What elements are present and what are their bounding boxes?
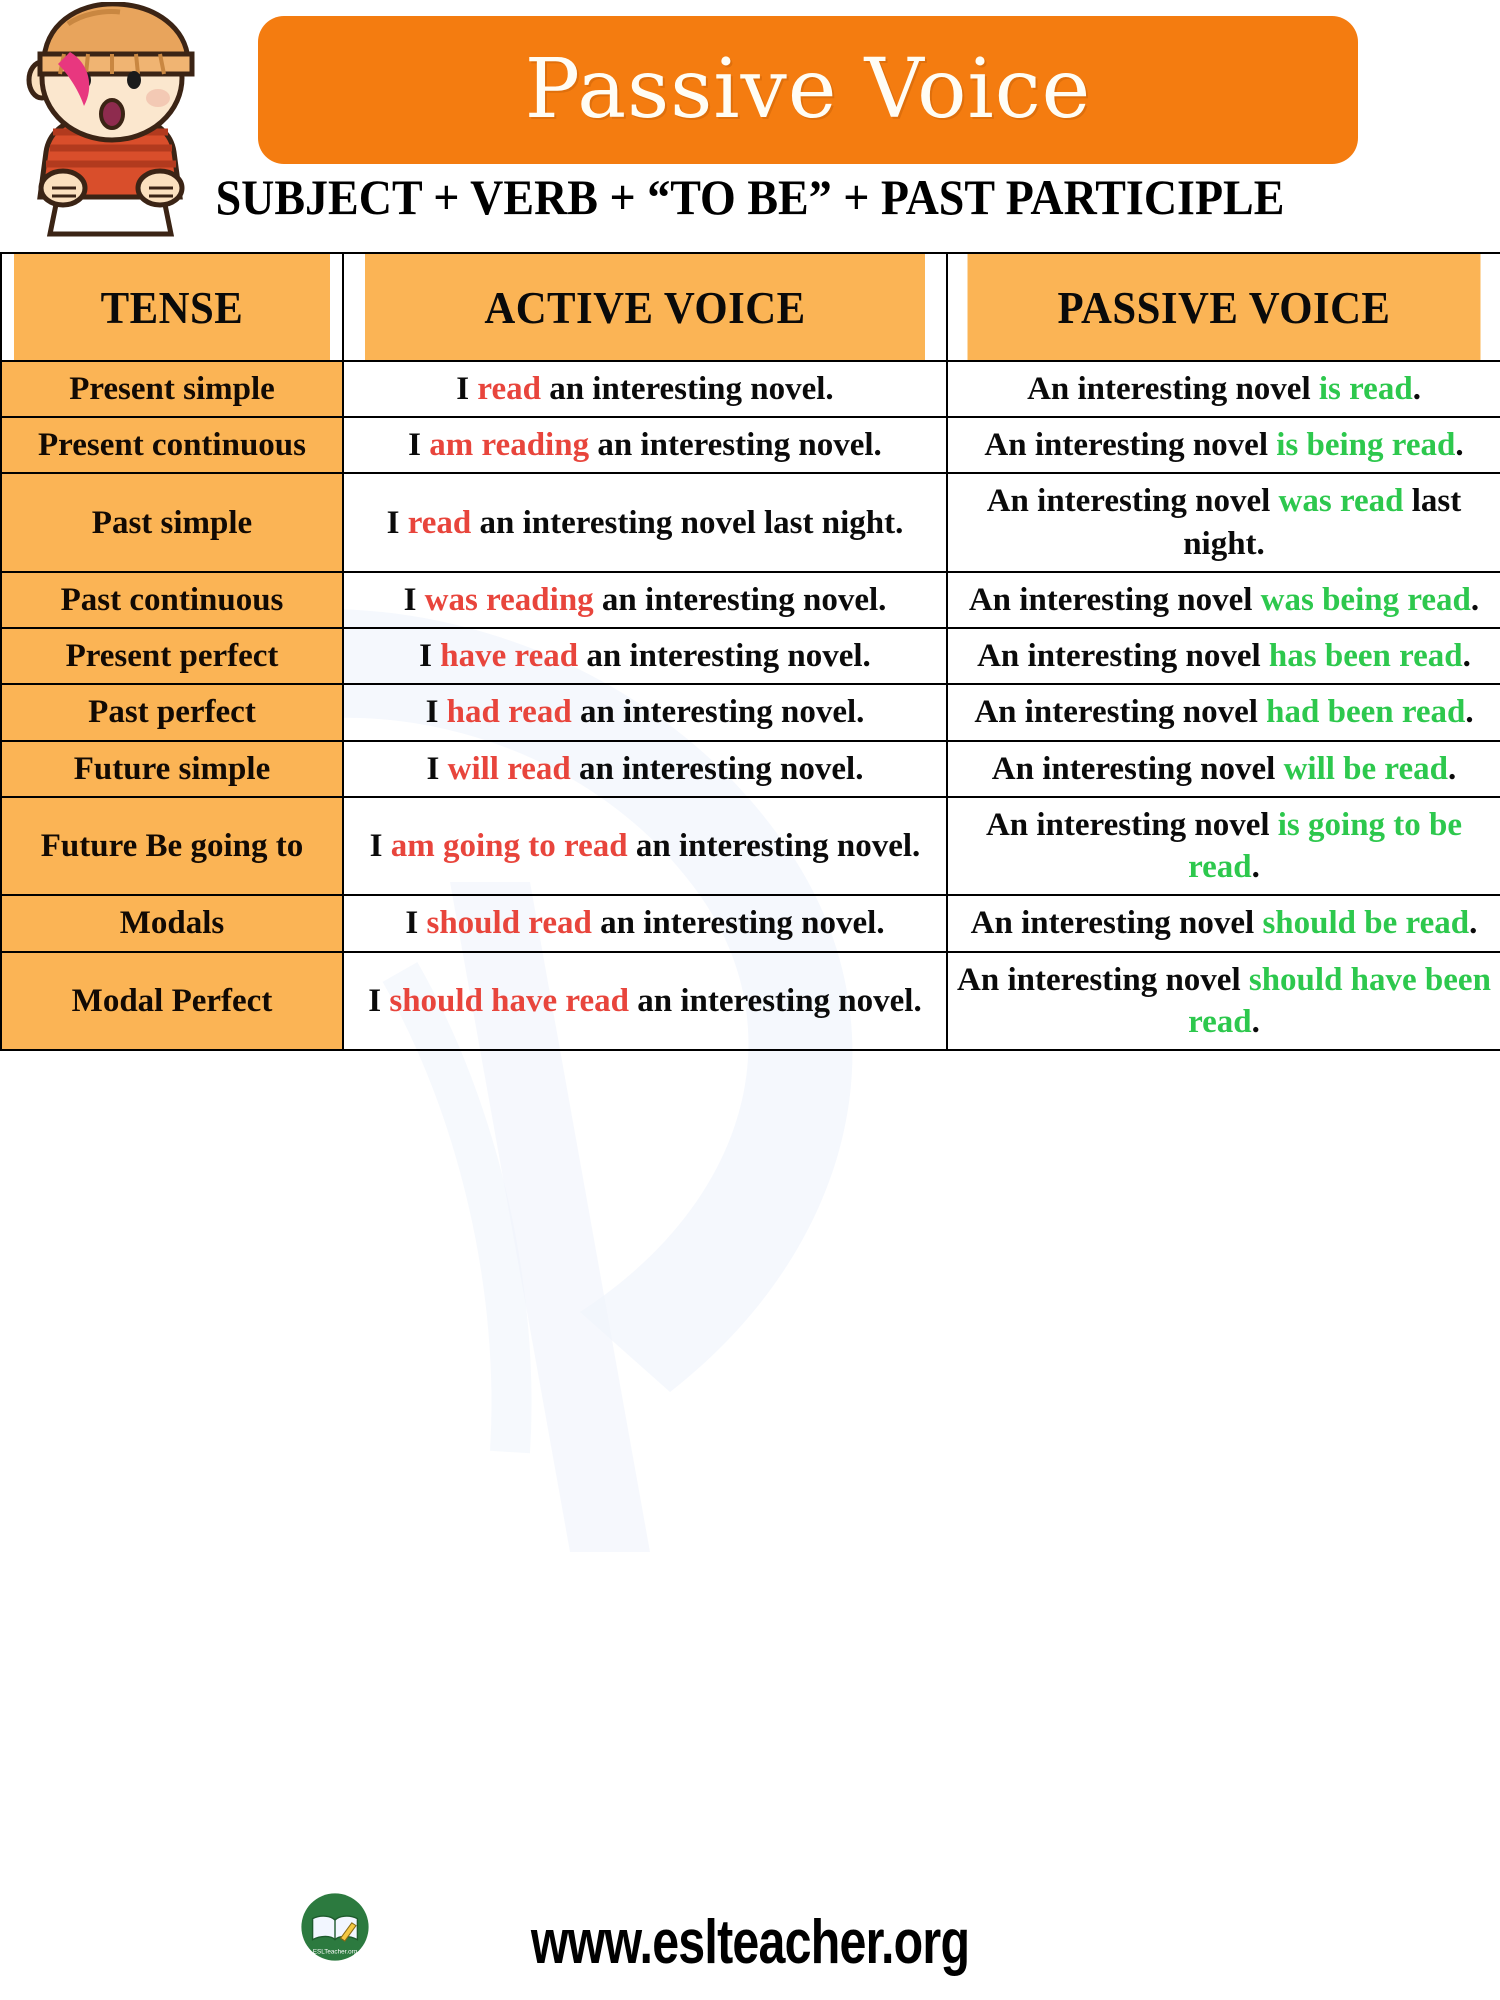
tense-label: Future simple [1, 741, 343, 797]
highlighted-verb: am reading [429, 427, 589, 463]
sentence-text: I [419, 638, 440, 674]
active-voice-sentence: I read an interesting novel. [343, 361, 947, 417]
sentence-text: an interesting novel. [589, 427, 882, 463]
highlighted-verb: should read [426, 905, 591, 941]
sentence-text: . [1463, 638, 1471, 674]
sentence-text: an interesting novel. [578, 638, 871, 674]
sentence-text: An interesting novel [971, 905, 1263, 941]
table-row: Future simpleI will read an interesting … [1, 741, 1500, 797]
tense-label: Past simple [1, 473, 343, 571]
table-row: Present simpleI read an interesting nove… [1, 361, 1500, 417]
sentence-text: An interesting novel [987, 483, 1279, 519]
website-url[interactable]: www.eslteacher.org [531, 1907, 969, 1978]
highlighted-verb: should be read [1262, 905, 1469, 941]
eslteacher-logo-badge: ESLTeacher.org [300, 1892, 370, 1962]
tense-label: Past perfect [1, 684, 343, 740]
sentence-text: an interesting novel. [629, 983, 922, 1019]
sentence-text: I [370, 828, 391, 864]
sentence-text: . [1455, 427, 1463, 463]
highlighted-verb: read [477, 371, 541, 407]
sentence-text: An interesting novel [986, 807, 1278, 843]
tense-label: Present continuous [1, 417, 343, 473]
passive-voice-table-wrap: TENSE ACTIVE VOICE PASSIVE VOICE Present… [0, 252, 1500, 1051]
svg-text:ESLTeacher.org: ESLTeacher.org [313, 1949, 358, 1956]
column-header-active: ACTIVE VOICE [364, 253, 926, 361]
highlighted-verb: is being read [1276, 427, 1455, 463]
sentence-text: an interesting novel. [572, 694, 865, 730]
sentence-text: . [1448, 751, 1456, 787]
page-header: Passive Voice SUBJECT + VERB + “TO BE” +… [0, 0, 1500, 252]
highlighted-verb: am going to read [391, 828, 628, 864]
sentence-text: I [387, 505, 408, 541]
tense-label: Past continuous [1, 572, 343, 628]
column-header-passive: PASSIVE VOICE [966, 253, 1481, 361]
formula-subtitle: SUBJECT + VERB + “TO BE” + PAST PARTICIP… [60, 168, 1440, 226]
table-row: Past continuousI was reading an interest… [1, 572, 1500, 628]
active-voice-sentence: I am going to read an interesting novel. [343, 797, 947, 895]
sentence-text: . [1252, 1004, 1260, 1040]
page-title: Passive Voice [525, 49, 1091, 131]
active-voice-sentence: I should read an interesting novel. [343, 895, 947, 951]
sentence-text: . [1469, 905, 1477, 941]
active-voice-sentence: I am reading an interesting novel. [343, 417, 947, 473]
table-row: Present perfectI have read an interestin… [1, 628, 1500, 684]
sentence-text: an interesting novel. [571, 751, 864, 787]
sentence-text: I [405, 905, 426, 941]
active-voice-sentence: I read an interesting novel last night. [343, 473, 947, 571]
sentence-text: An interesting novel [969, 582, 1261, 618]
sentence-text: An interesting novel [977, 638, 1269, 674]
highlighted-verb: has been read [1269, 638, 1463, 674]
sentence-text: an interesting novel. [592, 905, 885, 941]
passive-voice-table: TENSE ACTIVE VOICE PASSIVE VOICE Present… [0, 252, 1500, 1051]
highlighted-verb: have read [440, 638, 578, 674]
passive-voice-sentence: An interesting novel should be read. [947, 895, 1500, 951]
sentence-text: I [408, 427, 429, 463]
page-footer: www.eslteacher.org [0, 1907, 1500, 1978]
active-voice-sentence: I have read an interesting novel. [343, 628, 947, 684]
sentence-text: I [427, 751, 448, 787]
highlighted-verb: is read [1319, 371, 1413, 407]
highlighted-verb: was read [1279, 483, 1404, 519]
sentence-text: I [426, 694, 447, 730]
sentence-text: An interesting novel [974, 694, 1266, 730]
active-voice-sentence: I will read an interesting novel. [343, 741, 947, 797]
table-body: Present simpleI read an interesting nove… [1, 361, 1500, 1050]
table-row: ModalsI should read an interesting novel… [1, 895, 1500, 951]
sentence-text: I [404, 582, 425, 618]
sentence-text: I [456, 371, 477, 407]
tense-label: Present simple [1, 361, 343, 417]
table-row: Modal PerfectI should have read an inter… [1, 952, 1500, 1050]
passive-voice-sentence: An interesting novel had been read. [947, 684, 1500, 740]
highlighted-verb: had read [447, 694, 572, 730]
tense-label: Modals [1, 895, 343, 951]
passive-voice-sentence: An interesting novel is being read. [947, 417, 1500, 473]
sentence-text: An interesting novel [984, 427, 1276, 463]
passive-voice-sentence: An interesting novel was being read. [947, 572, 1500, 628]
passive-voice-sentence: An interesting novel is going to be read… [947, 797, 1500, 895]
sentence-text: I [368, 983, 389, 1019]
sentence-text: An interesting novel [1027, 371, 1319, 407]
passive-voice-sentence: An interesting novel is read. [947, 361, 1500, 417]
table-row: Future Be going toI am going to read an … [1, 797, 1500, 895]
highlighted-verb: was reading [425, 582, 594, 618]
sentence-text: An interesting novel [957, 962, 1249, 998]
active-voice-sentence: I was reading an interesting novel. [343, 572, 947, 628]
highlighted-verb: will be read [1284, 751, 1448, 787]
sentence-text: . [1471, 582, 1479, 618]
passive-voice-sentence: An interesting novel should have been re… [947, 952, 1500, 1050]
table-row: Past perfectI had read an interesting no… [1, 684, 1500, 740]
highlighted-verb: will read [448, 751, 571, 787]
table-row: Present continuousI am reading an intere… [1, 417, 1500, 473]
highlighted-verb: had been read [1266, 694, 1465, 730]
sentence-text: an interesting novel last night. [471, 505, 903, 541]
sentence-text: an interesting novel. [541, 371, 834, 407]
active-voice-sentence: I should have read an interesting novel. [343, 952, 947, 1050]
passive-voice-sentence: An interesting novel has been read. [947, 628, 1500, 684]
column-header-tense: TENSE [13, 253, 331, 361]
tense-label: Present perfect [1, 628, 343, 684]
highlighted-verb: should have read [389, 983, 629, 1019]
table-header-row: TENSE ACTIVE VOICE PASSIVE VOICE [1, 253, 1500, 361]
sentence-text: an interesting novel. [594, 582, 887, 618]
title-banner: Passive Voice [258, 16, 1358, 164]
sentence-text: An interesting novel [992, 751, 1284, 787]
highlighted-verb: read [408, 505, 472, 541]
sentence-text: an interesting novel. [628, 828, 921, 864]
active-voice-sentence: I had read an interesting novel. [343, 684, 947, 740]
passive-voice-sentence: An interesting novel was read last night… [947, 473, 1500, 571]
highlighted-verb: was being read [1261, 582, 1471, 618]
sentence-text: . [1252, 849, 1260, 885]
passive-voice-sentence: An interesting novel will be read. [947, 741, 1500, 797]
table-row: Past simpleI read an interesting novel l… [1, 473, 1500, 571]
sentence-text: . [1413, 371, 1421, 407]
tense-label: Future Be going to [1, 797, 343, 895]
sentence-text: . [1465, 694, 1473, 730]
tense-label: Modal Perfect [1, 952, 343, 1050]
